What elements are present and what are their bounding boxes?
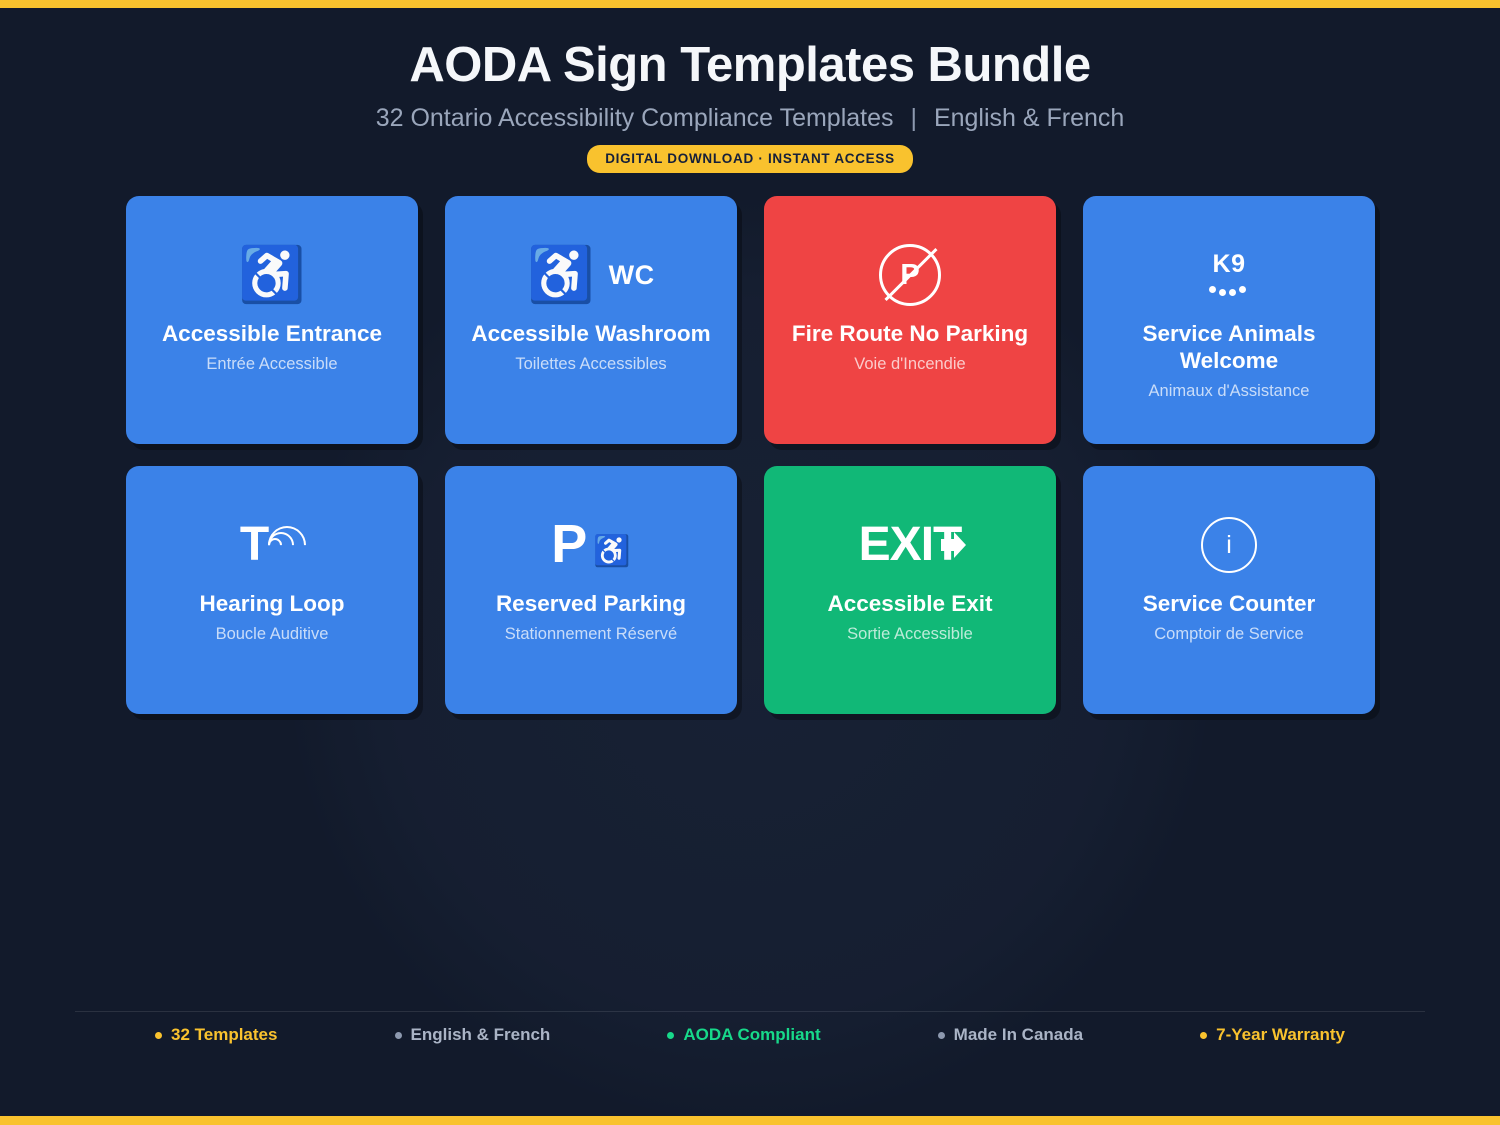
bullet-dot-icon (667, 1032, 674, 1039)
footer-item-made-in-canada: Made In Canada (938, 1025, 1083, 1045)
card-title-en: Fire Route No Parking (792, 320, 1028, 347)
parking-letter: P (551, 519, 587, 570)
card-title-en: Reserved Parking (496, 590, 686, 617)
sign-card-hearing-loop[interactable]: T Hearing Loop Boucle Auditive (126, 466, 418, 714)
footer-divider (75, 1011, 1425, 1012)
wheelchair-icon: ♿ (593, 537, 630, 567)
bullet-dot-icon (1200, 1032, 1207, 1039)
t-letter: T (240, 521, 269, 569)
paw-print-icon: K9 (1209, 252, 1249, 299)
card-glyph: T (126, 502, 418, 588)
bullet-dot-icon (395, 1032, 402, 1039)
badge-container: DIGITAL DOWNLOAD · INSTANT ACCESS (0, 145, 1500, 173)
footer-item-label: 7-Year Warranty (1216, 1025, 1345, 1045)
card-glyph: ♿ (126, 232, 418, 318)
card-glyph: P (764, 232, 1056, 318)
card-title-fr: Entrée Accessible (206, 355, 337, 375)
sign-card-accessible-entrance[interactable]: ♿ Accessible Entrance Entrée Accessible (126, 196, 418, 444)
card-title-fr: Stationnement Réservé (505, 625, 677, 645)
header: AODA Sign Templates Bundle 32 Ontario Ac… (0, 40, 1500, 173)
sign-card-service-animals-welcome[interactable]: K9 Service Animals Welcome Animaux d'Ass… (1083, 196, 1375, 444)
card-title-en: Accessible Exit (827, 590, 992, 617)
footer-item-label: 32 Templates (171, 1025, 277, 1045)
card-title-fr: Boucle Auditive (216, 625, 329, 645)
card-glyph: EXIT (764, 502, 1056, 588)
sign-template-grid: ♿ Accessible Entrance Entrée Accessible … (126, 196, 1376, 714)
subtitle-left-text: 32 Ontario Accessibility Compliance Temp… (376, 104, 894, 132)
card-title-en: Service Counter (1143, 590, 1316, 617)
poster-canvas: AODA Sign Templates Bundle 32 Ontario Ac… (0, 0, 1500, 1125)
page-title: AODA Sign Templates Bundle (0, 40, 1500, 91)
sign-card-accessible-washroom[interactable]: ♿ WC Accessible Washroom Toilettes Acces… (445, 196, 737, 444)
footer-item-aoda-compliant: AODA Compliant (667, 1025, 820, 1045)
bullet-dot-icon (155, 1032, 162, 1039)
card-glyph: P ♿ (445, 502, 737, 588)
card-glyph: K9 (1083, 232, 1375, 318)
footer-item-label: English & French (411, 1025, 551, 1045)
wc-label: WC (609, 260, 655, 291)
subtitle-separator: | (910, 104, 917, 132)
information-icon: i (1201, 517, 1257, 573)
k9-label: K9 (1213, 252, 1246, 277)
sign-card-fire-route-no-parking[interactable]: P Fire Route No Parking Voie d'Incendie (764, 196, 1056, 444)
top-accent-stripe (0, 0, 1500, 8)
card-title-en: Service Animals Welcome (1104, 320, 1354, 375)
footer-item-label: AODA Compliant (683, 1025, 820, 1045)
sign-card-service-counter[interactable]: i Service Counter Comptoir de Service (1083, 466, 1375, 714)
paw-dots (1209, 286, 1249, 299)
right-arrow-icon (941, 530, 967, 560)
card-title-fr: Sortie Accessible (847, 625, 973, 645)
subtitle-right-text: English & French (934, 104, 1124, 132)
footer-item-label: Made In Canada (954, 1025, 1083, 1045)
sound-wave-arcs (270, 517, 304, 573)
no-parking-icon: P (879, 244, 941, 306)
bullet-dot-icon (938, 1032, 945, 1039)
wheelchair-icon: ♿ (238, 248, 305, 302)
card-glyph: i (1083, 502, 1375, 588)
footer-feature-list: 32 Templates English & French AODA Compl… (75, 1025, 1425, 1045)
card-title-en: Accessible Entrance (162, 320, 382, 347)
hearing-loop-icon: T (240, 517, 304, 573)
card-title-fr: Animaux d'Assistance (1149, 382, 1310, 402)
wheelchair-wc-icon: ♿ WC (527, 248, 654, 302)
page-subtitle: 32 Ontario Accessibility Compliance Temp… (0, 104, 1500, 133)
footer-item-warranty: 7-Year Warranty (1200, 1025, 1345, 1045)
exit-arrow-icon: EXIT (859, 521, 962, 569)
sign-card-accessible-exit[interactable]: EXIT Accessible Exit Sortie Accessible (764, 466, 1056, 714)
card-title-fr: Toilettes Accessibles (515, 355, 666, 375)
card-title-en: Hearing Loop (200, 590, 345, 617)
card-title-en: Accessible Washroom (471, 320, 710, 347)
footer-item-templates: 32 Templates (155, 1025, 277, 1045)
sign-card-reserved-parking[interactable]: P ♿ Reserved Parking Stationnement Réser… (445, 466, 737, 714)
wheelchair-icon: ♿ (527, 248, 594, 302)
card-title-fr: Voie d'Incendie (854, 355, 965, 375)
parking-wheelchair-icon: P ♿ (551, 519, 630, 570)
bottom-accent-stripe (0, 1116, 1500, 1125)
card-title-fr: Comptoir de Service (1154, 625, 1303, 645)
status-badge: DIGITAL DOWNLOAD · INSTANT ACCESS (587, 145, 913, 173)
footer-item-languages: English & French (395, 1025, 551, 1045)
card-glyph: ♿ WC (445, 232, 737, 318)
